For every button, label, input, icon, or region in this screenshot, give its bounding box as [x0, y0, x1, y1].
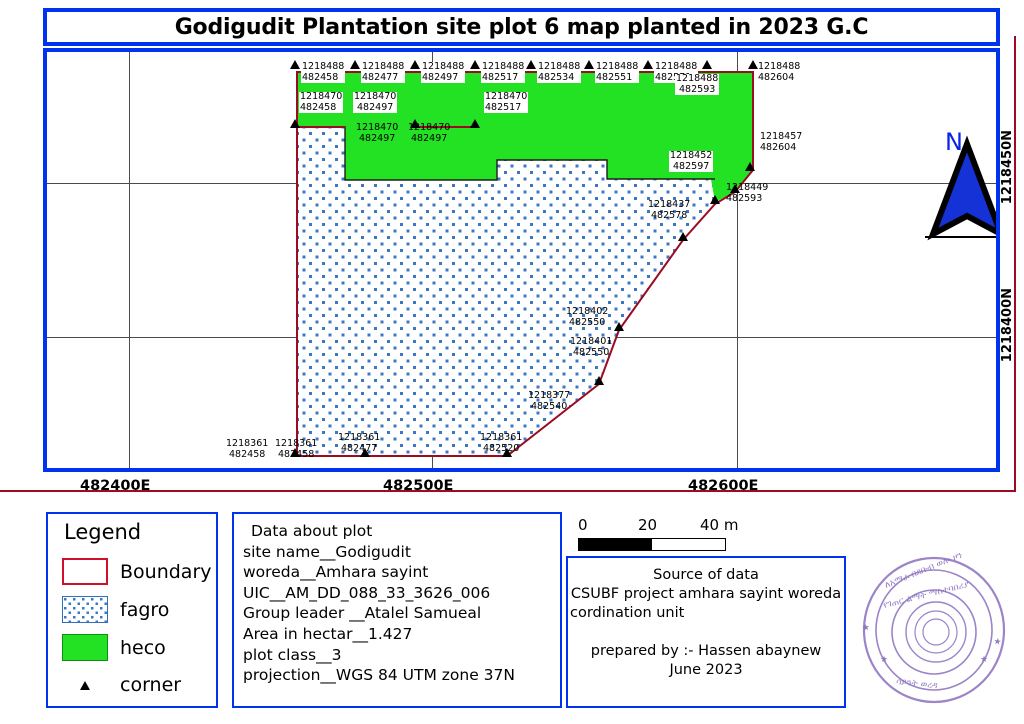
map-canvas[interactable]: 1218488482458 1218488482477 121848848249…	[47, 52, 996, 468]
coord-label: 1218437482578	[647, 200, 691, 221]
coord-label: 1218470482458	[299, 92, 343, 113]
boundary-swatch	[62, 558, 108, 585]
map-polygon-layer	[47, 52, 996, 468]
source-heading: Source of data	[568, 566, 844, 585]
coord-label: 1218361482477	[337, 433, 381, 454]
coord-label: 1218470482497	[353, 92, 397, 113]
coord-label: 1218452482597	[669, 151, 713, 172]
coord-label: 1218470482497	[407, 123, 451, 144]
legend-item-fagro: fagro	[62, 596, 169, 623]
coord-label: 1218470482497	[355, 123, 399, 144]
north-letter: N	[945, 128, 963, 156]
map-page: Godigudit Plantation site plot 6 map pla…	[0, 0, 1024, 724]
corner-marker	[470, 60, 480, 69]
y-axis-tick-1218400: 1218400N	[1000, 288, 1015, 362]
scale-tick-0: 0	[578, 516, 588, 534]
official-seal-stamp: ለአማራ በደቡብ ወሎ ዞን የገጠር ልማት ማስተባበሪያ ሳይንት ወረ…	[856, 552, 1012, 708]
source-spacer	[568, 623, 844, 642]
svg-text:★: ★	[861, 623, 872, 633]
coord-label: 1218488482458	[301, 62, 345, 83]
coord-label: 1218361482520	[479, 433, 523, 454]
corner-marker	[290, 119, 300, 128]
legend-item-label: corner	[120, 674, 181, 696]
corner-marker	[745, 162, 755, 171]
scale-tick-20: 20	[638, 516, 657, 534]
legend-item-label: Boundary	[120, 561, 212, 583]
coord-label: 1218401482550	[569, 337, 613, 358]
prepared-by: prepared by :- Hassen abaynew	[568, 642, 844, 661]
plot-data-lines: Data about plot site name__Godigudit wor…	[243, 521, 515, 686]
coord-label: 1218488482517	[481, 62, 525, 83]
plot-data-woreda: woreda__Amhara sayint	[243, 562, 515, 583]
source-line-1: CSUBF project amhara sayint woreda	[568, 585, 844, 604]
coord-label: 1218377482540	[527, 391, 571, 412]
corner-marker	[584, 60, 594, 69]
corner-marker	[678, 232, 688, 241]
legend-panel: Legend Boundary fagro	[46, 512, 218, 708]
coord-label: 1218402482550	[565, 307, 609, 328]
corner-marker	[350, 60, 360, 69]
corner-marker	[410, 60, 420, 69]
legend-item-boundary: Boundary	[62, 558, 212, 585]
scale-bar-segment-dark	[579, 539, 652, 550]
plot-data-panel: Data about plot site name__Godigudit wor…	[232, 512, 562, 708]
svg-text:★: ★	[991, 637, 1002, 647]
outer-red-rule-bottom	[0, 490, 1016, 492]
coord-label: 1218488482593	[675, 74, 719, 95]
legend-item-heco: heco	[62, 634, 166, 661]
x-axis-tick-482600: 482600E	[688, 478, 758, 494]
outer-red-rule-right	[1014, 36, 1016, 491]
corner-marker	[702, 60, 712, 69]
legend-item-label: fagro	[120, 599, 169, 621]
coord-label: 1218488482551	[595, 62, 639, 83]
heco-swatch	[62, 634, 108, 661]
plot-data-site-name: site name__Godigudit	[243, 542, 515, 563]
corner-marker	[614, 322, 624, 331]
plot-data-heading: Data about plot	[243, 521, 515, 542]
coord-label: 1218488482604	[757, 62, 801, 83]
coord-label: 1218488482497	[421, 62, 465, 83]
coord-label: 1218457482604	[759, 132, 803, 153]
coord-label: 1218449482593	[725, 183, 769, 204]
source-panel: Source of data CSUBF project amhara sayi…	[566, 556, 846, 708]
corner-marker	[643, 60, 653, 69]
coord-label: 1218470482517	[484, 92, 528, 113]
corner-marker	[710, 195, 720, 204]
plot-data-uic: UIC__AM_DD_088_33_3626_006	[243, 583, 515, 604]
map-frame[interactable]: 1218488482458 1218488482477 121848848249…	[43, 48, 1000, 472]
plot-data-area: Area in hectar__1.427	[243, 624, 515, 645]
coord-label: 1218488482477	[361, 62, 405, 83]
coord-label: 1218488482534	[537, 62, 581, 83]
coord-label: 1218361482458	[225, 439, 269, 460]
corner-marker	[470, 119, 480, 128]
scale-bar-segment-light	[652, 539, 725, 550]
x-axis-tick-482500: 482500E	[383, 478, 453, 494]
source-line-2: cordination unit	[568, 604, 844, 623]
plot-data-group-leader: Group leader __Atalel Samueal	[243, 603, 515, 624]
legend-item-label: heco	[120, 637, 166, 659]
map-title-box: Godigudit Plantation site plot 6 map pla…	[43, 8, 1000, 46]
svg-text:★: ★	[980, 655, 988, 665]
scale-bar-ticks: 0 20 40 m	[578, 516, 758, 536]
y-axis-tick-1218450: 1218450N	[1000, 130, 1015, 204]
corner-marker	[290, 60, 300, 69]
svg-text:★: ★	[880, 655, 888, 665]
coord-label: 1218361482458	[274, 439, 318, 460]
prepared-date: June 2023	[568, 661, 844, 680]
scale-tick-40: 40 m	[700, 516, 738, 534]
source-lines: Source of data CSUBF project amhara sayi…	[568, 566, 844, 680]
legend-item-corner: corner	[62, 674, 181, 696]
x-axis-tick-482400: 482400E	[80, 478, 150, 494]
scale-bar: 0 20 40 m	[578, 516, 758, 551]
corner-marker-icon	[80, 681, 90, 690]
scale-bar-graphic	[578, 538, 726, 551]
page-title: Godigudit Plantation site plot 6 map pla…	[175, 15, 869, 40]
svg-text:ሳይንት ወረዳ: ሳይንት ወረዳ	[896, 677, 939, 691]
fagro-swatch	[62, 596, 108, 623]
corner-marker	[526, 60, 536, 69]
corner-marker	[594, 376, 604, 385]
legend-title: Legend	[64, 520, 141, 544]
plot-data-plot-class: plot class__3	[243, 645, 515, 666]
plot-data-projection: projection__WGS 84 UTM zone 37N	[243, 665, 515, 686]
